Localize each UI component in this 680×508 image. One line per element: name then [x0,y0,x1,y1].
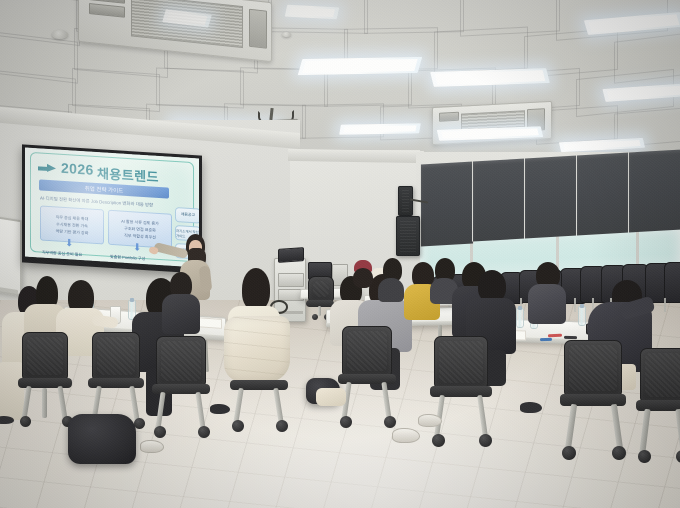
task-chair[interactable] [338,326,396,430]
student-hair [353,268,373,288]
ceiling-beam [288,149,424,163]
student-top [378,278,404,302]
task-chair-with-coat[interactable] [228,322,296,430]
slide-down-arrow-icon: ⬇ [65,240,73,249]
tote-bag-floor [316,388,346,406]
task-chair[interactable] [560,340,626,460]
roller-blind[interactable] [524,155,578,238]
slide-arrow-icon [47,164,56,173]
smoke-detector-icon [282,32,291,37]
ceiling-light-panel [339,123,421,134]
slide-side-box-1-text: 채용공고 [181,212,195,218]
backpack[interactable] [68,414,136,464]
task-chair[interactable] [18,332,72,428]
roller-blind[interactable] [420,161,474,246]
wall-speaker [398,186,413,216]
presenter-hand [148,246,158,255]
student-shoe [0,416,14,424]
sneaker [140,440,164,453]
marker-pen[interactable] [564,336,577,339]
student-top [528,284,566,324]
student [378,258,406,298]
student-jacket [162,294,200,334]
monitor [278,247,304,263]
shoe-dark [520,402,542,413]
sneaker [392,428,420,443]
slide-arrow-tail [38,166,47,171]
ceiling-light-panel [298,57,423,75]
slide-heading: 채용트렌드 [97,163,159,186]
wall-speaker [396,216,420,256]
slide-down-arrow-icon: ⬇ [133,244,141,253]
roller-blind[interactable] [628,149,680,232]
sneaker [418,414,442,427]
student [348,262,378,302]
empty-chair[interactable] [664,262,680,303]
classroom-photo: 2026 채용트렌드 취업 전략 가이드 AI·디지털 전환 확산에 따른 Jo… [0,0,680,508]
water-bottle[interactable] [578,306,586,326]
slide-box-left-footer: 직무역량 중심 준비 필요 [42,250,82,259]
task-chair[interactable] [636,348,680,464]
slide-side-box-1: 채용공고 [175,207,199,224]
roller-blind[interactable] [472,158,526,241]
shoe-dark [210,404,230,414]
coat-quilt-lines [224,316,290,382]
slide-box-right-footer: 맞춤형 Portfolio 구성 [110,254,145,262]
slide-year: 2026 [61,160,94,178]
slide-box-left-line-3: 역량 기반 평가 강화 [56,228,89,236]
student-hair [242,268,270,310]
student [528,262,572,332]
presenter-pointing-arm [153,242,188,259]
slide-title-bar-text: 취업 전략 가이드 [85,184,123,194]
roller-blind[interactable] [576,152,630,235]
task-chair[interactable] [152,336,210,440]
whiteboard [0,216,22,297]
task-chair[interactable] [430,336,492,448]
smoke-detector-icon [52,30,68,39]
marker-pen[interactable] [540,338,552,341]
